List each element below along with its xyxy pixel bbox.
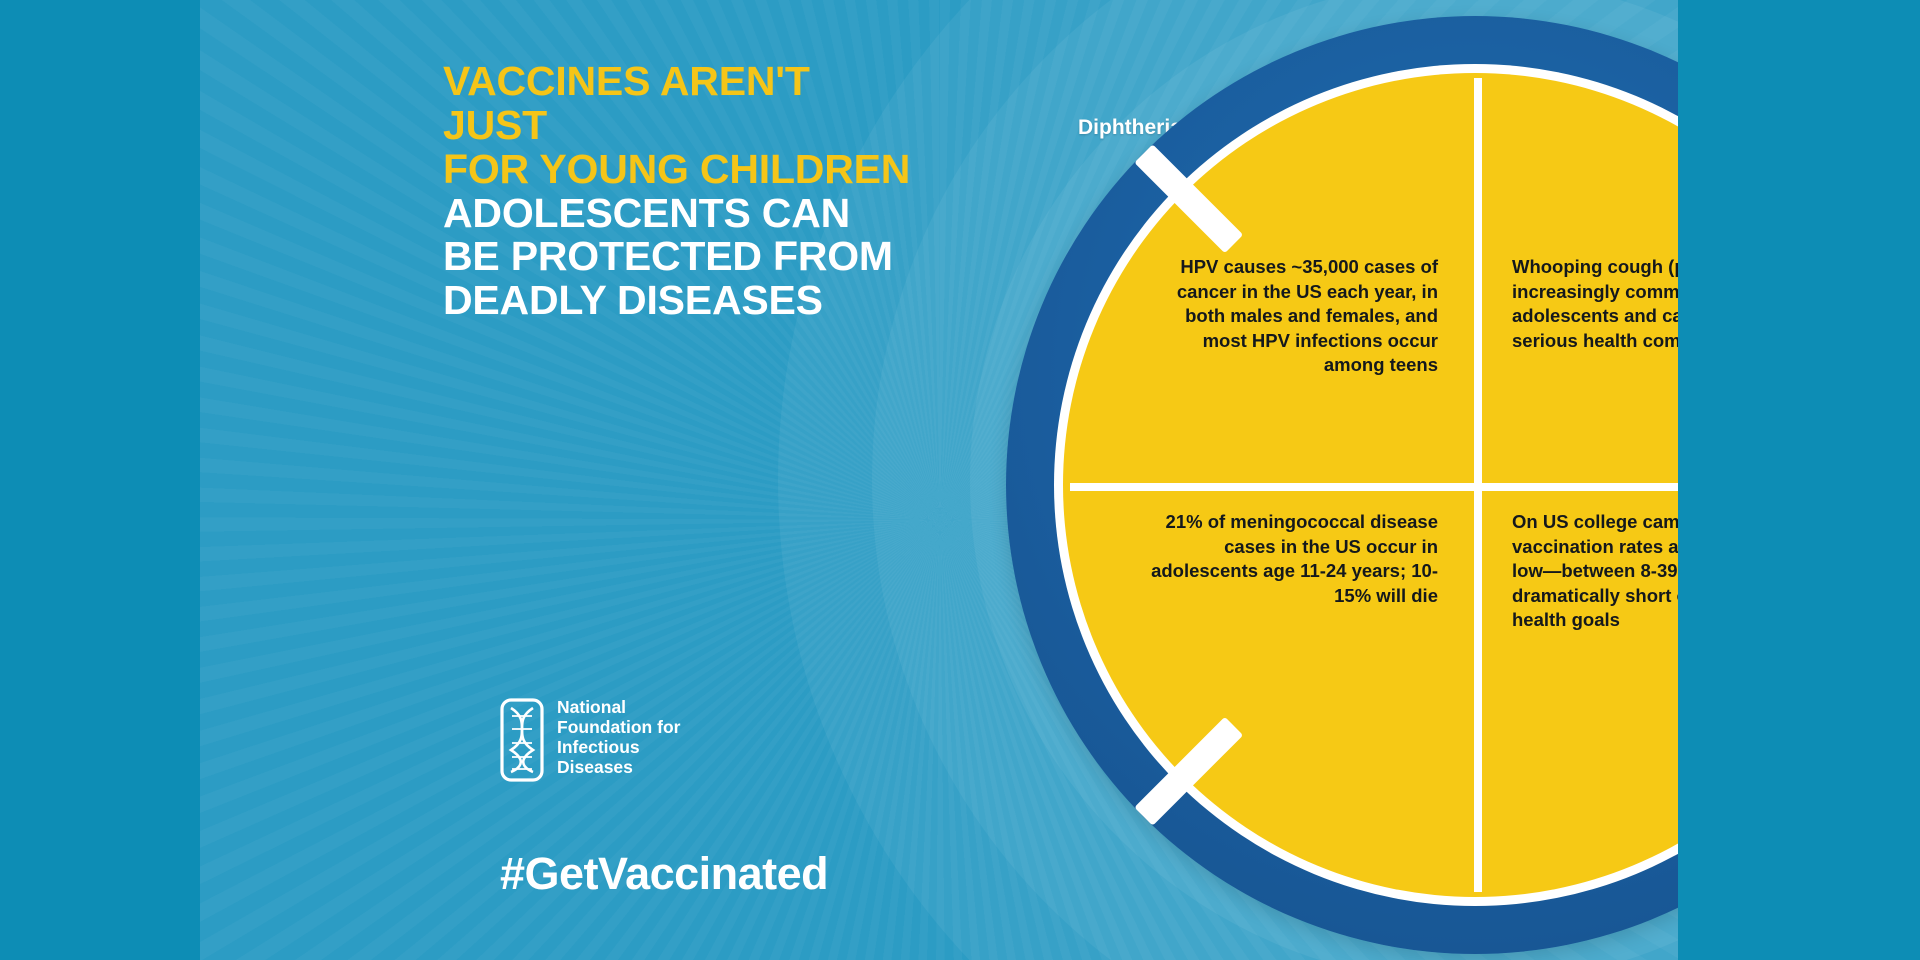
fact-hpv: HPV causes ~35,000 cases of cancer in th… (1138, 255, 1438, 378)
wedge-notch-bottom-left (1170, 662, 1298, 790)
headline-line-5: DEADLY DISEASES (443, 279, 913, 323)
wedge-notch-bottom-right (1652, 662, 1678, 790)
fact-meningococcal: 21% of meningococcal disease cases in th… (1138, 510, 1438, 608)
know-the-risks-wheel: KNOW THE RISKS HPV causes ~35,000 cases … (1000, 10, 1678, 960)
nfid-logo: National Foundation for Infectious Disea… (500, 698, 680, 782)
page-title: VACCINES AREN'T JUST FOR YOUNG CHILDREN … (443, 60, 913, 323)
fact-pertussis: Whooping cough (pertussis) is increasing… (1512, 255, 1678, 353)
logo-line-4: Diseases (557, 758, 680, 778)
nfid-logo-text: National Foundation for Infectious Disea… (557, 698, 680, 778)
logo-line-3: Infectious (557, 738, 680, 758)
poster-panel: VACCINES AREN'T JUST FOR YOUNG CHILDREN … (200, 0, 1678, 960)
quadrant-divider-horizontal (1070, 483, 1678, 491)
infographic-canvas: VACCINES AREN'T JUST FOR YOUNG CHILDREN … (0, 0, 1920, 960)
logo-line-1: National (557, 698, 680, 718)
headline-line-1: VACCINES AREN'T JUST (443, 60, 913, 148)
logo-line-2: Foundation for (557, 718, 680, 738)
headline-line-3: ADOLESCENTS CAN (443, 192, 913, 236)
hashtag: #GetVaccinated (500, 848, 828, 900)
headline-line-4: BE PROTECTED FROM (443, 235, 913, 279)
dna-helix-icon (500, 698, 544, 782)
fact-influenza: On US college campuses, flu vaccination … (1512, 510, 1678, 633)
headline-line-2: FOR YOUNG CHILDREN (443, 148, 913, 192)
